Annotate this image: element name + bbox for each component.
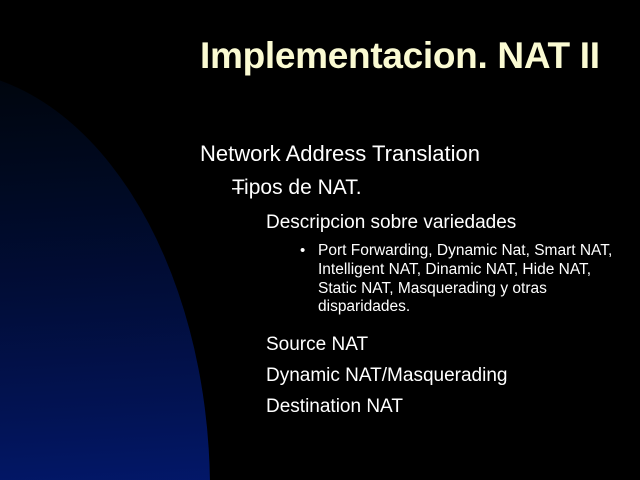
slide-title: Implementacion. NAT II — [200, 38, 620, 74]
presentation-slide: Implementacion. NAT II Network Address T… — [0, 0, 640, 480]
outline-item-destination-nat: Destination NAT — [266, 396, 403, 417]
blue-ellipse-decoration — [0, 70, 210, 480]
outline-item-source-nat: Source NAT — [266, 334, 368, 355]
outline-item-nat-varieties: • Port Forwarding, Dynamic Nat, Smart NA… — [300, 242, 618, 317]
outline-item-tipos-de-nat-label: Tipos de NAT. — [232, 176, 362, 199]
outline-item-descripcion-sobre-variedades: Descripcion sobre variedades — [266, 212, 516, 233]
outline-item-dynamic-nat-masquerading: Dynamic NAT/Masquerading — [266, 365, 507, 386]
outline-item-network-address-translation: Network Address Translation — [200, 142, 480, 167]
outline-item-nat-varieties-label: Port Forwarding, Dynamic Nat, Smart NAT,… — [318, 242, 618, 317]
outline-item-tipos-de-nat: –Tipos de NAT. — [232, 176, 362, 200]
bullet-point-icon: • — [300, 242, 305, 260]
